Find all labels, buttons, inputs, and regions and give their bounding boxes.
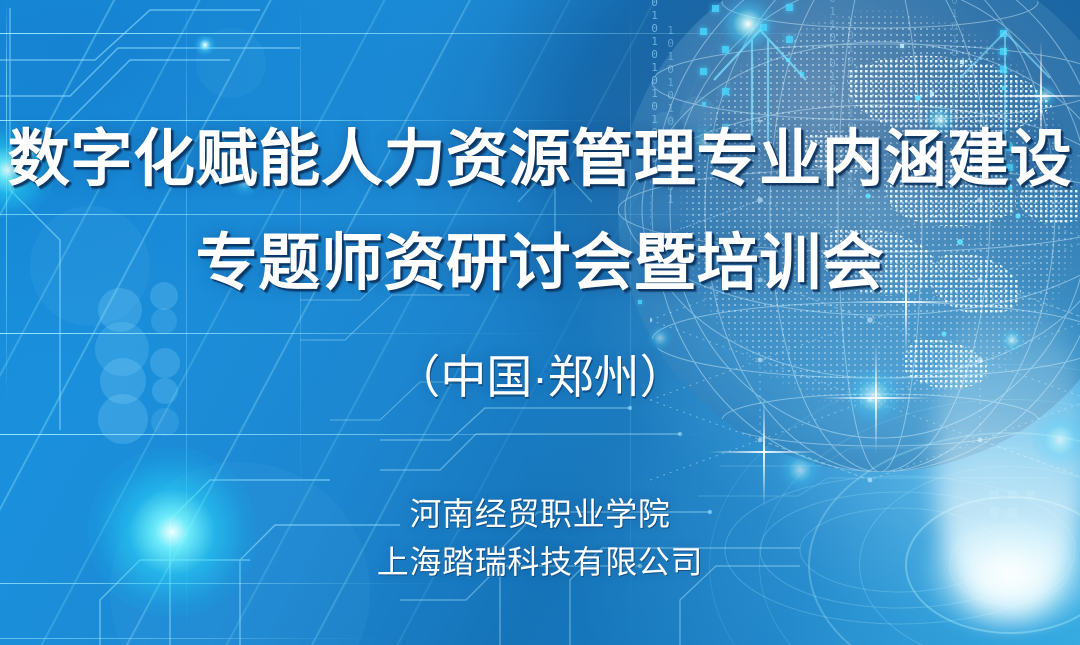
conference-banner: 01010101010101 10101010101101 0110101011… — [0, 0, 1080, 645]
organizer-company: 上海踏瑞科技有限公司 — [0, 542, 1080, 582]
subtitle-location: （中国·郑州） — [0, 348, 1080, 406]
title-line-1: 数字化赋能人力资源管理专业内涵建设 — [0, 122, 1080, 198]
organizer-college: 河南经贸职业学院 — [0, 494, 1080, 534]
title-line-2: 专题师资研讨会暨培训会 — [0, 226, 1080, 302]
banner-content: 数字化赋能人力资源管理专业内涵建设 专题师资研讨会暨培训会 （中国·郑州） 河南… — [0, 0, 1080, 645]
